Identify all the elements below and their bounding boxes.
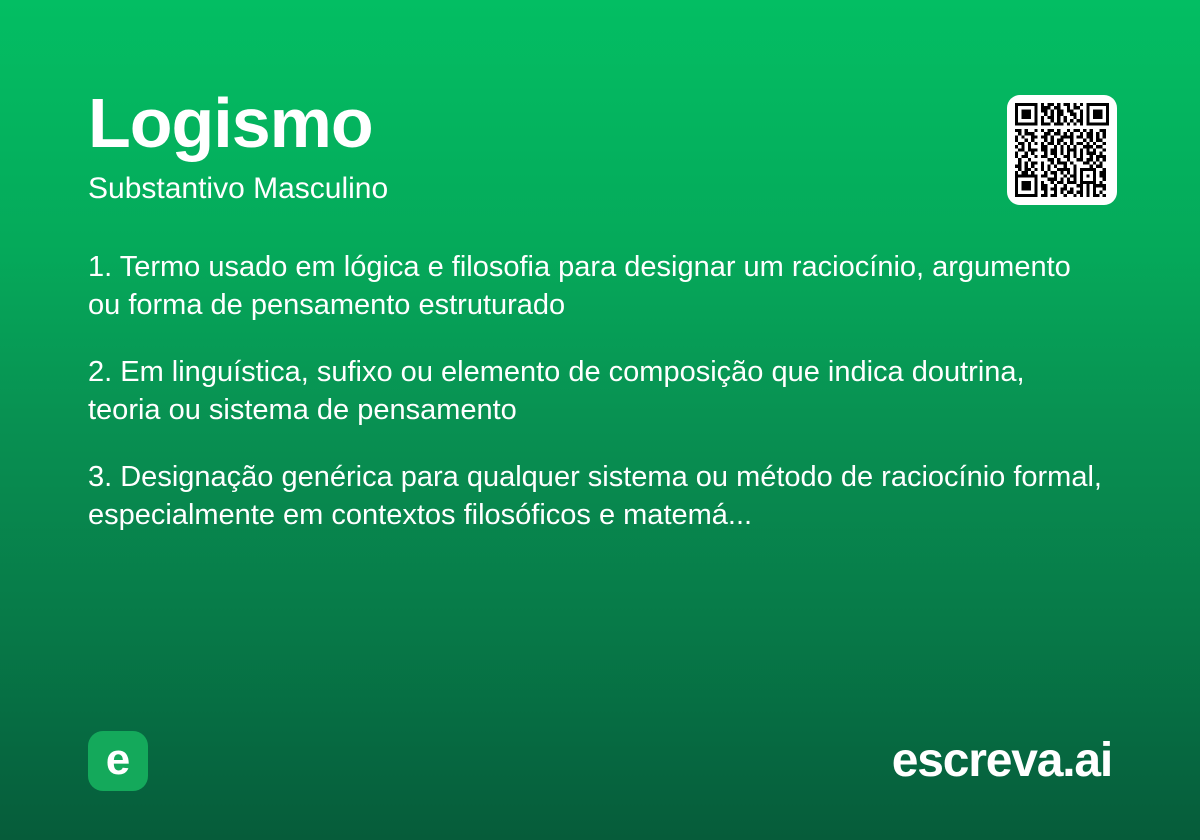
qr-code-icon: [1015, 103, 1109, 197]
definition-item: 2. Em linguística, sufixo ou elemento de…: [88, 353, 1103, 429]
definition-item: 1. Termo usado em lógica e filosofia par…: [88, 248, 1103, 324]
definitions-list: 1. Termo usado em lógica e filosofia par…: [88, 248, 1103, 534]
page-title: Logismo: [88, 88, 968, 158]
qr-code-panel[interactable]: [1007, 95, 1117, 205]
brand-logo-letter: e: [106, 738, 130, 782]
brand-logo-badge: e: [88, 731, 148, 791]
definition-item: 3. Designação genérica para qualquer sis…: [88, 458, 1103, 534]
card-header: Logismo Substantivo Masculino: [88, 88, 968, 205]
word-class-label: Substantivo Masculino: [88, 172, 968, 205]
card-footer: e escreva.ai: [0, 730, 1200, 792]
definition-card: Logismo Substantivo Masculino: [0, 0, 1200, 840]
brand-wordmark: escreva.ai: [892, 737, 1112, 785]
